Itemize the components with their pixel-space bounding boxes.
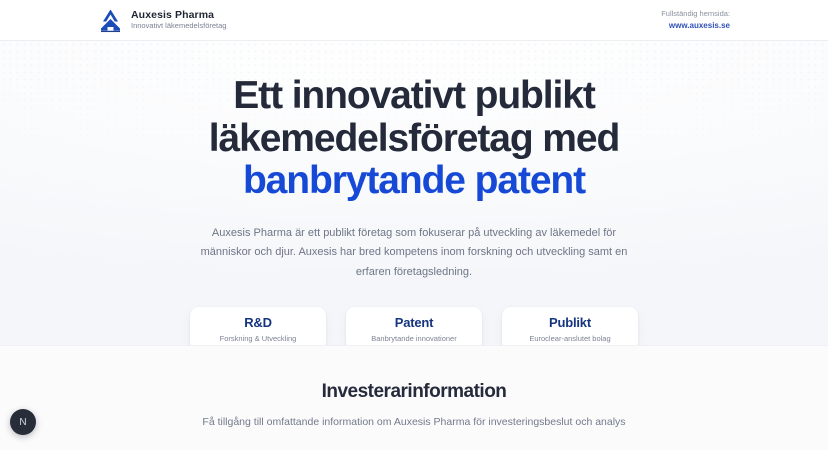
brand-name: Auxesis Pharma <box>131 10 226 21</box>
full-site-link[interactable]: www.auxesis.se <box>661 21 730 31</box>
page-root: Auxesis Pharma Innovativt läkemedelsföre… <box>0 0 828 450</box>
feature-card-title: R&D <box>244 316 272 330</box>
feature-card-publikt[interactable]: Publikt Euroclear-anslutet bolag <box>502 307 638 345</box>
hero-title-line-2: läkemedelsföretag med <box>134 118 694 161</box>
feature-card-subtitle: Forskning & Utveckling <box>220 335 297 343</box>
header-full-site: Fullständig hemsida: www.auxesis.se <box>661 9 730 30</box>
page-title: Ett innovativt publikt läkemedelsföretag… <box>134 75 694 203</box>
auxesis-a-logo-icon <box>98 8 123 33</box>
feature-card-rd[interactable]: R&D Forskning & Utveckling <box>190 307 326 345</box>
investor-section-title: Investerarinformation <box>0 381 828 403</box>
feature-card-subtitle: Euroclear-anslutet bolag <box>529 335 610 343</box>
hero-feature-cards: R&D Forskning & Utveckling Patent Banbry… <box>0 307 828 345</box>
feature-card-patent[interactable]: Patent Banbrytande innovationer <box>346 307 482 345</box>
navigation-badge-icon[interactable]: N <box>10 409 36 435</box>
site-header: Auxesis Pharma Innovativt läkemedelsföre… <box>0 0 828 41</box>
full-site-label: Fullständig hemsida: <box>661 9 730 18</box>
brand-tagline: Innovativt läkemedelsföretag <box>131 22 226 30</box>
feature-card-subtitle: Banbrytande innovationer <box>371 335 456 343</box>
investor-section: Investerarinformation Få tillgång till o… <box>0 345 828 450</box>
brand-logo[interactable]: Auxesis Pharma Innovativt läkemedelsföre… <box>98 8 226 33</box>
brand-text-block: Auxesis Pharma Innovativt läkemedelsföre… <box>131 10 226 30</box>
investor-section-subtitle: Få tillgång till omfattande information … <box>0 416 828 428</box>
hero-subtitle: Auxesis Pharma är ett publikt företag so… <box>196 224 632 283</box>
hero-title-line-1: Ett innovativt publikt <box>134 75 694 118</box>
feature-card-title: Patent <box>395 316 434 330</box>
hero-title-line-3-accent: banbrytande patent <box>134 160 694 203</box>
hero-content: Ett innovativt publikt läkemedelsföretag… <box>0 75 828 345</box>
feature-card-title: Publikt <box>549 316 591 330</box>
hero-section: Ett innovativt publikt läkemedelsföretag… <box>0 41 828 345</box>
